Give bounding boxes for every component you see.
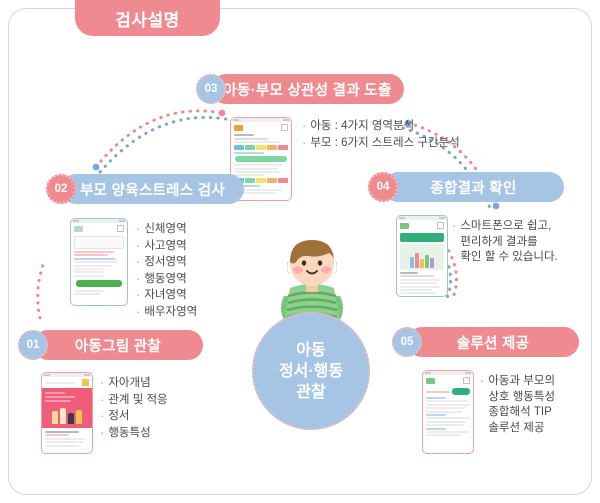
list-item: ·관계 및 적응 bbox=[100, 393, 210, 409]
section-05-bullets: ·아동과 부모의 상호 행동특성 종합해석 TIP 솔루션 제공 bbox=[480, 374, 595, 437]
section-03-banner[interactable]: 아동·부모 상관성 결과 도출 bbox=[211, 74, 404, 104]
bullet-dot: · bbox=[302, 119, 306, 133]
list-item: ·정서 bbox=[100, 409, 210, 425]
bullet-dot: · bbox=[100, 393, 104, 407]
phone-app-header bbox=[423, 375, 473, 386]
list-item: ·스마트폰으로 쉽고, 편리하게 결과를 확인 할 수 있습니다. bbox=[452, 219, 582, 266]
section-04-badge: 04 bbox=[368, 172, 398, 202]
list-item: ·아동 : 4가지 영역분석 bbox=[302, 119, 502, 135]
section-03-bullets: ·아동 : 4가지 영역분석 ·부모 : 6가지 스트레스 구간분석 bbox=[302, 119, 502, 152]
phone-mockup-01 bbox=[41, 372, 93, 454]
section-05-banner[interactable]: 솔루션 제공 bbox=[407, 327, 579, 357]
section-04-banner[interactable]: 종합결과 확인 bbox=[383, 172, 564, 202]
phone-menu-icon bbox=[281, 124, 288, 131]
section-02-number: 02 bbox=[55, 183, 68, 195]
bullet-dot: · bbox=[452, 219, 456, 233]
phone-logo-icon bbox=[74, 226, 83, 232]
list-item: ·부모 : 6가지 스트레스 구간분석 bbox=[302, 136, 502, 152]
bullet-dot: · bbox=[480, 374, 484, 388]
section-02-title: 부모 양육스트레스 검사 bbox=[80, 179, 225, 200]
phone-green-banner bbox=[400, 233, 444, 242]
bullet-dot: · bbox=[302, 136, 306, 150]
bullet-dot: · bbox=[100, 409, 104, 423]
phone-app-header bbox=[397, 220, 447, 231]
bullet-dot: · bbox=[100, 426, 104, 440]
list-item: ·자아개념 bbox=[100, 376, 210, 392]
list-item: ·자녀영역 bbox=[136, 288, 246, 304]
section-01-title: 아동그림 관찰 bbox=[75, 335, 161, 356]
section-05-title: 솔루션 제공 bbox=[457, 332, 530, 353]
bullet-dot: · bbox=[136, 255, 140, 269]
section-05-badge: 05 bbox=[392, 327, 422, 357]
section-01-badge: 01 bbox=[18, 330, 48, 360]
bullet-dot: · bbox=[136, 288, 140, 302]
center-line-1: 아동 bbox=[296, 340, 325, 361]
phone-menu-icon bbox=[82, 379, 89, 386]
section-03-title: 아동·부모 상관성 결과 도출 bbox=[223, 79, 391, 100]
phone-menu-icon bbox=[117, 225, 124, 232]
phone-logo-icon bbox=[400, 223, 409, 229]
infographic-root: 검사설명 03 아동·부모 상관성 결과 도출 bbox=[0, 0, 600, 503]
phone-browser-bar bbox=[42, 377, 92, 388]
center-circle: 아동 정서·행동 관찰 bbox=[252, 312, 370, 430]
list-item: ·행동영역 bbox=[136, 272, 246, 288]
phone-green-pill bbox=[452, 388, 470, 395]
phone-mockup-02 bbox=[70, 218, 128, 306]
phone-pink-hero bbox=[42, 388, 92, 428]
section-04-number: 04 bbox=[377, 181, 390, 193]
center-line-2: 정서·행동 bbox=[279, 361, 343, 382]
bullet-dot: · bbox=[136, 305, 140, 319]
phone-logo-icon bbox=[426, 378, 435, 384]
section-05-number: 05 bbox=[401, 336, 414, 348]
phone-menu-icon bbox=[463, 377, 470, 384]
list-item: ·배우자영역 bbox=[136, 305, 246, 321]
phone-app-header bbox=[71, 223, 127, 234]
phone-hero-figures bbox=[45, 404, 89, 424]
list-item: ·행동특성 bbox=[100, 426, 210, 442]
phone-title-box bbox=[74, 236, 124, 249]
bullet-dot: · bbox=[136, 222, 140, 236]
list-item: ·사고영역 bbox=[136, 239, 246, 255]
bullet-dot: · bbox=[136, 239, 140, 253]
phone-submit-button[interactable] bbox=[76, 280, 122, 287]
phone-illustration bbox=[400, 244, 444, 270]
phone-logo-icon bbox=[234, 125, 243, 131]
section-04-title: 종합결과 확인 bbox=[430, 177, 516, 198]
list-item: ·정서영역 bbox=[136, 255, 246, 271]
section-02-badge: 02 bbox=[46, 174, 76, 204]
phone-chart-bars bbox=[234, 145, 288, 150]
bullet-dot: · bbox=[100, 376, 104, 390]
list-item: ·아동과 부모의 상호 행동특성 종합해석 TIP 솔루션 제공 bbox=[480, 374, 595, 436]
bullet-dot: · bbox=[136, 272, 140, 286]
section-02-bullets: ·신체영역 ·사고영역 ·정서영역 ·행동영역 ·자녀영역 ·배우자영역 bbox=[136, 222, 246, 321]
phone-menu-icon bbox=[437, 222, 444, 229]
section-01-banner[interactable]: 아동그림 관찰 bbox=[33, 330, 203, 360]
section-02-banner[interactable]: 부모 양육스트레스 검사 bbox=[61, 174, 244, 204]
section-04-bullets: ·스마트폰으로 쉽고, 편리하게 결과를 확인 할 수 있습니다. bbox=[452, 219, 582, 267]
list-item: ·신체영역 bbox=[136, 222, 246, 238]
center-line-3: 관찰 bbox=[296, 382, 325, 403]
section-03-number: 03 bbox=[205, 83, 218, 95]
phone-mockup-05 bbox=[422, 370, 474, 454]
phone-app-header bbox=[231, 122, 291, 133]
phone-mockup-04 bbox=[396, 215, 448, 297]
section-01-number: 01 bbox=[27, 339, 40, 351]
section-03-badge: 03 bbox=[196, 74, 226, 104]
section-01-bullets: ·자아개념 ·관계 및 적응 ·정서 ·행동특성 bbox=[100, 376, 210, 442]
center-group: 아동 정서·행동 관찰 bbox=[246, 226, 376, 426]
